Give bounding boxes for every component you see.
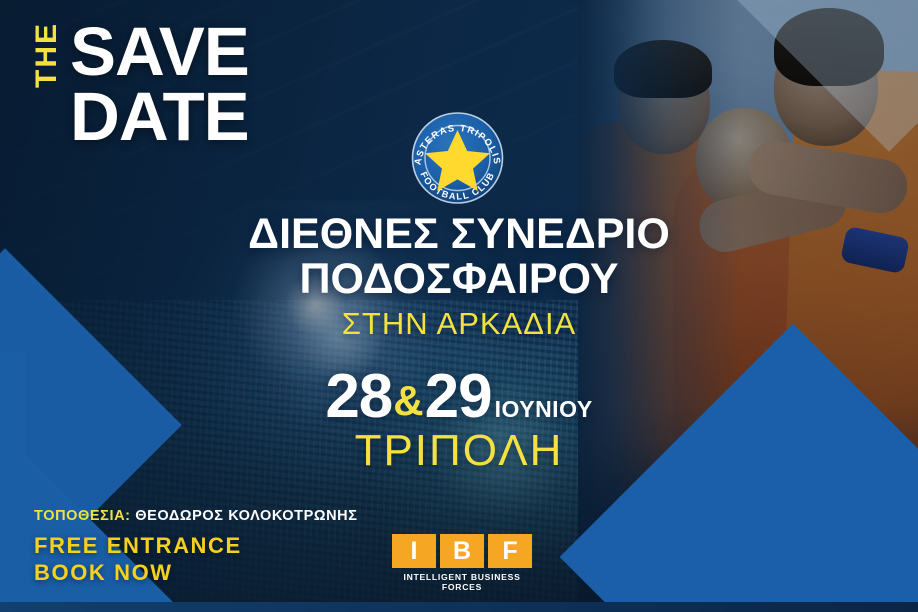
cta-free-entrance: FREE ENTRANCE (34, 533, 242, 560)
venue-name: ΘΕΟΔΩΡΟΣ ΚΟΛΟΚΟΤΡΩΝΗΣ (135, 508, 357, 524)
crest-svg: ASTERAS TRIPOLIS FOOTBALL CLUB (405, 108, 510, 205)
event-month: ΙΟΥΝΙΟΥ (495, 396, 593, 423)
ibf-sponsor-logo: I B F INTELLIGENT BUSINESS FORCES (392, 534, 534, 592)
date-separator: & (392, 380, 424, 422)
ibf-letter-b: B (440, 534, 484, 568)
event-dates-block: 28 & 29 ΙΟΥΝΙΟΥ ΤΡΙΠΟΛΗ (0, 366, 918, 476)
ibf-letter-tiles: I B F (392, 534, 534, 568)
headline-block: ΔΙΕΘΝΕΣ ΣΥΝΕΔΡΙΟ ΠΟΔΟΣΦΑΙΡΟΥ ΣΤΗΝ ΑΡΚΑΔΙ… (0, 212, 918, 342)
ibf-tagline: INTELLIGENT BUSINESS FORCES (392, 572, 532, 592)
cta-book-now[interactable]: BOOK NOW (34, 560, 242, 587)
asteras-tripolis-crest-logo: ASTERAS TRIPOLIS FOOTBALL CLUB (405, 108, 510, 205)
call-to-action-block[interactable]: FREE ENTRANCE BOOK NOW (34, 533, 242, 587)
headline-line-2: ΠΟΔΟΣΦΑΙΡΟΥ (0, 257, 918, 302)
headline-subtitle: ΣΤΗΝ ΑΡΚΑΔΙΑ (0, 306, 918, 342)
venue-line: ΤΟΠΟΘΕΣΙΑ: ΘΕΟΔΩΡΟΣ ΚΟΛΟΚΟΤΡΩΝΗΣ (34, 508, 358, 524)
ibf-letter-i: I (392, 534, 436, 568)
save-the-date-the: THE (32, 22, 62, 88)
bottom-edge-strip (0, 602, 918, 612)
date-line: 28 & 29 ΙΟΥΝΙΟΥ (325, 366, 592, 428)
ibf-letter-f: F (488, 534, 532, 568)
event-city: ΤΡΙΠΟΛΗ (0, 426, 918, 476)
event-day-1: 28 (325, 366, 392, 428)
save-the-date-date: DATE (70, 85, 249, 150)
event-day-2: 29 (425, 366, 492, 428)
venue-label: ΤΟΠΟΘΕΣΙΑ: (34, 508, 131, 524)
event-poster: THE SAVE DATE ASTERAS TRIPOLIS (0, 0, 918, 612)
headline-line-1: ΔΙΕΘΝΕΣ ΣΥΝΕΔΡΙΟ (0, 212, 918, 257)
save-the-date-save: SAVE (70, 20, 249, 85)
save-the-date-block: THE SAVE DATE (34, 20, 249, 150)
